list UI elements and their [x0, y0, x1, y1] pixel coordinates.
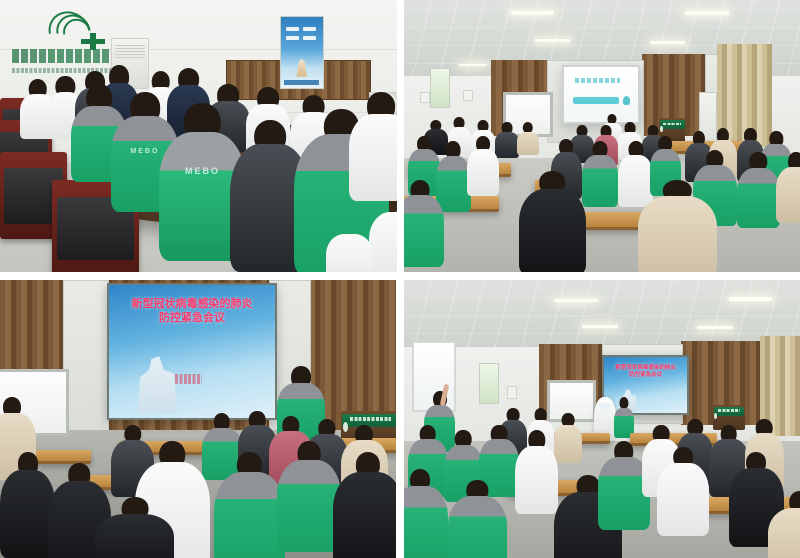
person: [214, 452, 285, 558]
person: [448, 480, 507, 558]
jacket-text: MEBO: [130, 148, 159, 155]
jacket-text: MEBO: [185, 166, 220, 176]
person: [277, 441, 340, 552]
person: [333, 452, 396, 558]
person-icon: [623, 96, 630, 106]
slide-title: 新型冠状病毒感染的肺炎: [132, 298, 253, 310]
lecture-hall-scene: [404, 0, 800, 272]
person: [95, 497, 174, 558]
person: [515, 430, 559, 513]
wall-panel: [63, 280, 109, 443]
person: [349, 92, 397, 201]
person: [404, 469, 448, 558]
person: [582, 141, 618, 206]
medical-cross-icon: [81, 33, 105, 51]
wall-sign: [507, 386, 517, 399]
person: [554, 413, 582, 463]
hospital-cross-logo-icon: [46, 8, 106, 52]
slide-subtitle: 防控紧急会议: [629, 372, 662, 378]
person: [737, 152, 781, 228]
lecture-hall-scene: 新型冠状病毒感染的肺炎 防控紧急会议: [404, 280, 800, 558]
wall-sign: [463, 90, 473, 102]
wall-poster-blue: [280, 16, 324, 89]
slide-subtitle: 防控紧急会议: [159, 312, 225, 324]
projection-screen: 新型冠状病毒感染的肺炎 防控紧急会议: [107, 283, 277, 420]
wall-poster: [430, 68, 450, 108]
person: [519, 171, 586, 272]
photo-bottom-right[interactable]: 新型冠状病毒感染的肺炎 防控紧急会议: [404, 280, 800, 558]
person: [369, 212, 397, 272]
person: [657, 447, 708, 536]
person: [517, 122, 539, 155]
photo-top-right[interactable]: [404, 0, 800, 272]
lecture-hall-scene: 新型冠状病毒感染的肺炎 防控紧急会议: [0, 280, 396, 558]
person: [776, 152, 800, 223]
slide-title-block: 新型冠状病毒感染的肺炎 防控紧急会议: [119, 298, 265, 326]
slide-title: 新型冠状病毒感染的肺炎: [615, 365, 676, 371]
photo-top-left[interactable]: MEBO MEBO: [0, 0, 397, 272]
person: [467, 136, 499, 196]
person: [638, 180, 717, 272]
photo-bottom-left[interactable]: 新型冠状病毒感染的肺炎 防控紧急会议: [0, 280, 396, 558]
person: [768, 491, 800, 558]
wall-poster: [479, 363, 499, 404]
conference-room-scene: MEBO MEBO: [0, 0, 397, 272]
photo-collage: MEBO MEBO: [0, 0, 800, 558]
person: [326, 234, 374, 272]
wall-sign: [420, 92, 430, 102]
person: [404, 180, 444, 267]
face-shield-icon: [599, 403, 610, 409]
slide-title-block: 新型冠状病毒感染的肺炎 防控紧急会议: [609, 365, 682, 379]
